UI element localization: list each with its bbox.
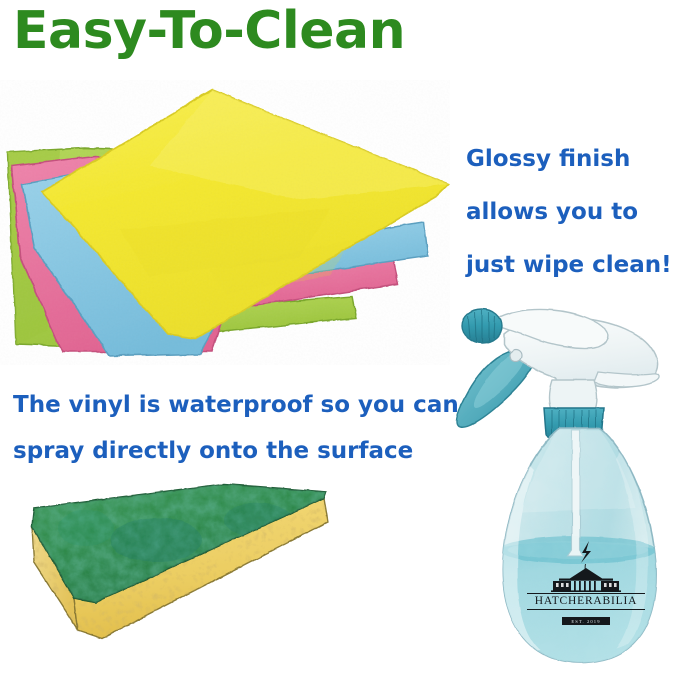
spray-bottle-illustration [448, 300, 679, 674]
waterproof-line-2: spray directly onto the surface [13, 428, 463, 474]
waterproof-line-1: The vinyl is waterproof so you can [13, 382, 463, 428]
bottle-nozzle [462, 309, 502, 343]
glossy-finish-copy: Glossy finish allows you to just wipe cl… [466, 133, 679, 292]
waterproof-copy: The vinyl is waterproof so you can spray… [13, 382, 463, 474]
bottle-body [488, 420, 668, 674]
cloth-stack-illustration [0, 80, 450, 365]
product-infographic: Easy-To-Clean [0, 0, 679, 674]
page-title: Easy-To-Clean [13, 2, 405, 60]
glossy-line-3: just wipe clean! [466, 239, 679, 292]
sponge-illustration [6, 470, 346, 650]
glossy-line-2: allows you to [466, 186, 679, 239]
glossy-line-1: Glossy finish [466, 133, 679, 186]
